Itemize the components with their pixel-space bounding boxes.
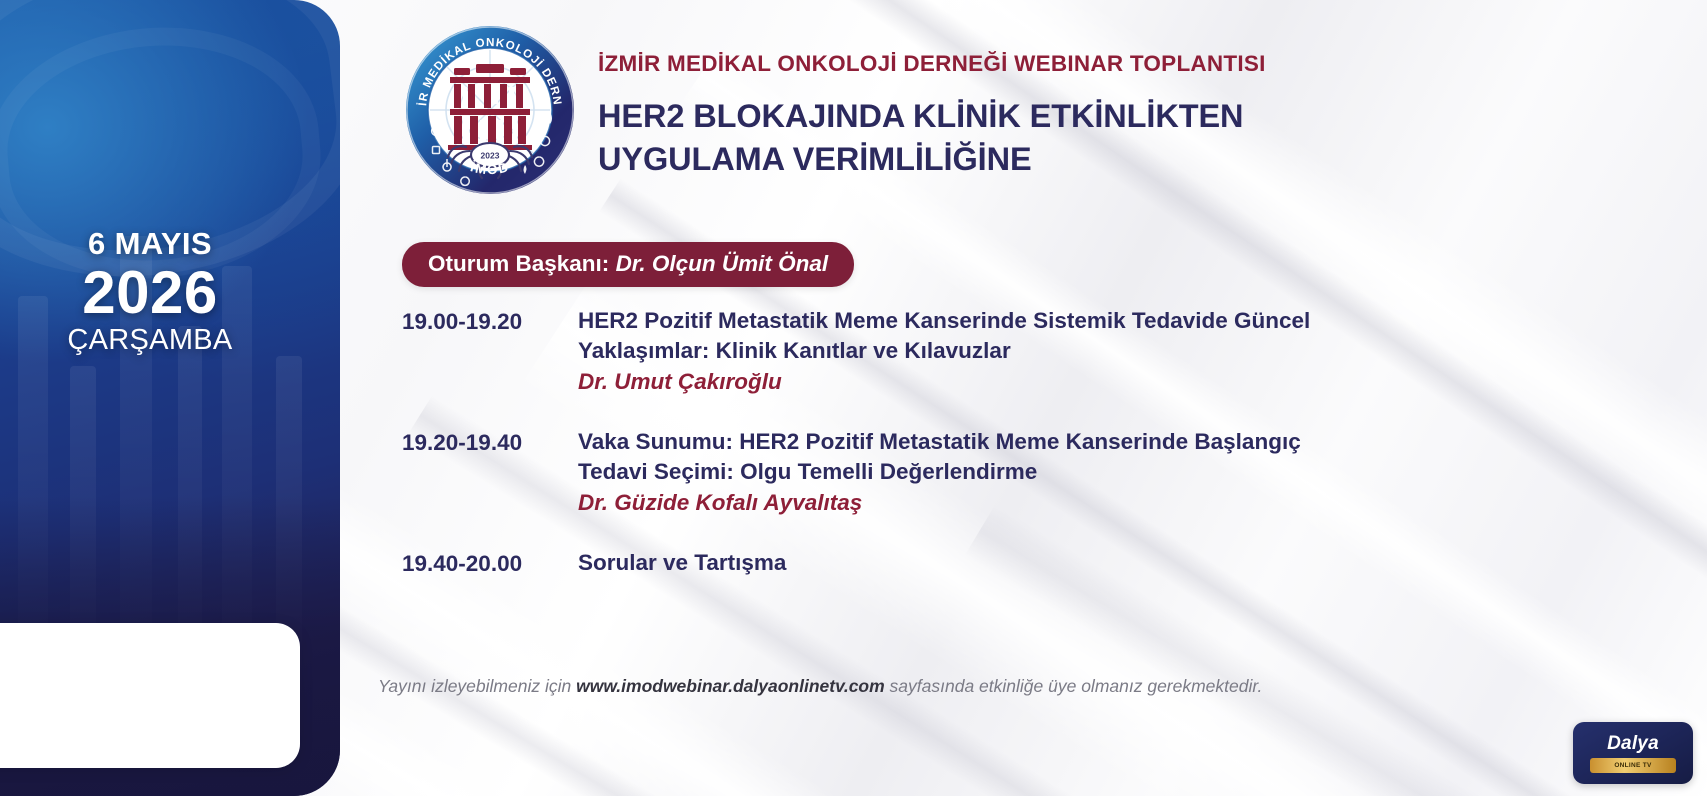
date-year: 2026 bbox=[0, 261, 300, 325]
agenda-list: 19.00-19.20 HER2 Pozitif Metastatik Meme… bbox=[402, 306, 1562, 578]
date-day-month: 6 MAYIS bbox=[0, 228, 300, 259]
agenda-body: HER2 Pozitif Metastatik Meme Kanserinde … bbox=[578, 306, 1562, 397]
date-panel: 6 MAYIS 2026 ÇARŞAMBA bbox=[0, 0, 340, 796]
agenda-body: Vaka Sunumu: HER2 Pozitif Metastatik Mem… bbox=[578, 427, 1562, 518]
session-chair-label: Oturum Başkanı: bbox=[428, 251, 609, 276]
imod-logo: 2023 İZMİR MEDİKAL ONKOLOJİ DERNEĞİ İMOD bbox=[404, 24, 576, 196]
date-weekday: ÇARŞAMBA bbox=[0, 326, 300, 355]
agenda-item: 19.20-19.40 Vaka Sunumu: HER2 Pozitif Me… bbox=[402, 427, 1562, 518]
footer-registration-note: Yayını izleyebilmeniz için www.imodwebin… bbox=[378, 676, 1498, 698]
agenda-title-line: Yaklaşımlar: Klinik Kanıtlar ve Kılavuzl… bbox=[578, 336, 1562, 366]
dalya-logo-subtitle: ONLINE TV bbox=[1614, 762, 1651, 769]
dalya-logo-name: Dalya bbox=[1607, 734, 1659, 753]
sponsor-card bbox=[0, 623, 300, 768]
agenda-item: 19.00-19.20 HER2 Pozitif Metastatik Meme… bbox=[402, 306, 1562, 397]
dalya-logo-bar: ONLINE TV bbox=[1590, 758, 1676, 773]
agenda-speaker: Dr. Umut Çakıroğlu bbox=[578, 367, 1562, 397]
footer-suffix: sayfasında etkinliğe üye olmanız gerekme… bbox=[885, 676, 1263, 696]
agenda-title-line: HER2 Pozitif Metastatik Meme Kanserinde … bbox=[578, 306, 1562, 336]
header-text-block: İZMİR MEDİKAL ONKOLOJİ DERNEĞİ WEBINAR T… bbox=[598, 52, 1266, 181]
webinar-url[interactable]: www.imodwebinar.dalyaonlinetv.com bbox=[576, 676, 885, 696]
event-date: 6 MAYIS 2026 ÇARŞAMBA bbox=[0, 228, 300, 355]
agenda-time: 19.00-19.20 bbox=[402, 306, 578, 397]
footer-prefix: Yayını izleyebilmeniz için bbox=[378, 676, 576, 696]
event-title-line-1: HER2 BLOKAJINDA KLİNİK ETKİNLİKTEN bbox=[598, 95, 1266, 138]
dalya-online-tv-logo: Dalya ONLINE TV bbox=[1573, 722, 1693, 784]
page-title: HER2 BLOKAJINDA KLİNİK ETKİNLİKTEN UYGUL… bbox=[598, 95, 1266, 181]
agenda-time: 19.20-19.40 bbox=[402, 427, 578, 518]
agenda-speaker: Dr. Güzide Kofalı Ayvalıtaş bbox=[578, 488, 1562, 518]
session-chair-badge: Oturum Başkanı: Dr. Olçun Ümit Önal bbox=[402, 242, 854, 287]
agenda-body: Sorular ve Tartışma bbox=[578, 548, 1562, 579]
agenda-title-line: Vaka Sunumu: HER2 Pozitif Metastatik Mem… bbox=[578, 427, 1562, 457]
agenda-time: 19.40-20.00 bbox=[402, 548, 578, 579]
logo-year-text: 2023 bbox=[481, 151, 500, 161]
agenda-title-line: Tedavi Seçimi: Olgu Temelli Değerlendirm… bbox=[578, 457, 1562, 487]
webinar-poster: 6 MAYIS 2026 ÇARŞAMBA bbox=[0, 0, 1707, 796]
event-title-line-2: UYGULAMA VERİMLİLİĞİNE bbox=[598, 138, 1266, 181]
agenda-item: 19.40-20.00 Sorular ve Tartışma bbox=[402, 548, 1562, 579]
event-kicker: İZMİR MEDİKAL ONKOLOJİ DERNEĞİ WEBINAR T… bbox=[598, 52, 1266, 77]
session-chair-name: Dr. Olçun Ümit Önal bbox=[616, 251, 829, 276]
agenda-title-line: Sorular ve Tartışma bbox=[578, 548, 1562, 578]
